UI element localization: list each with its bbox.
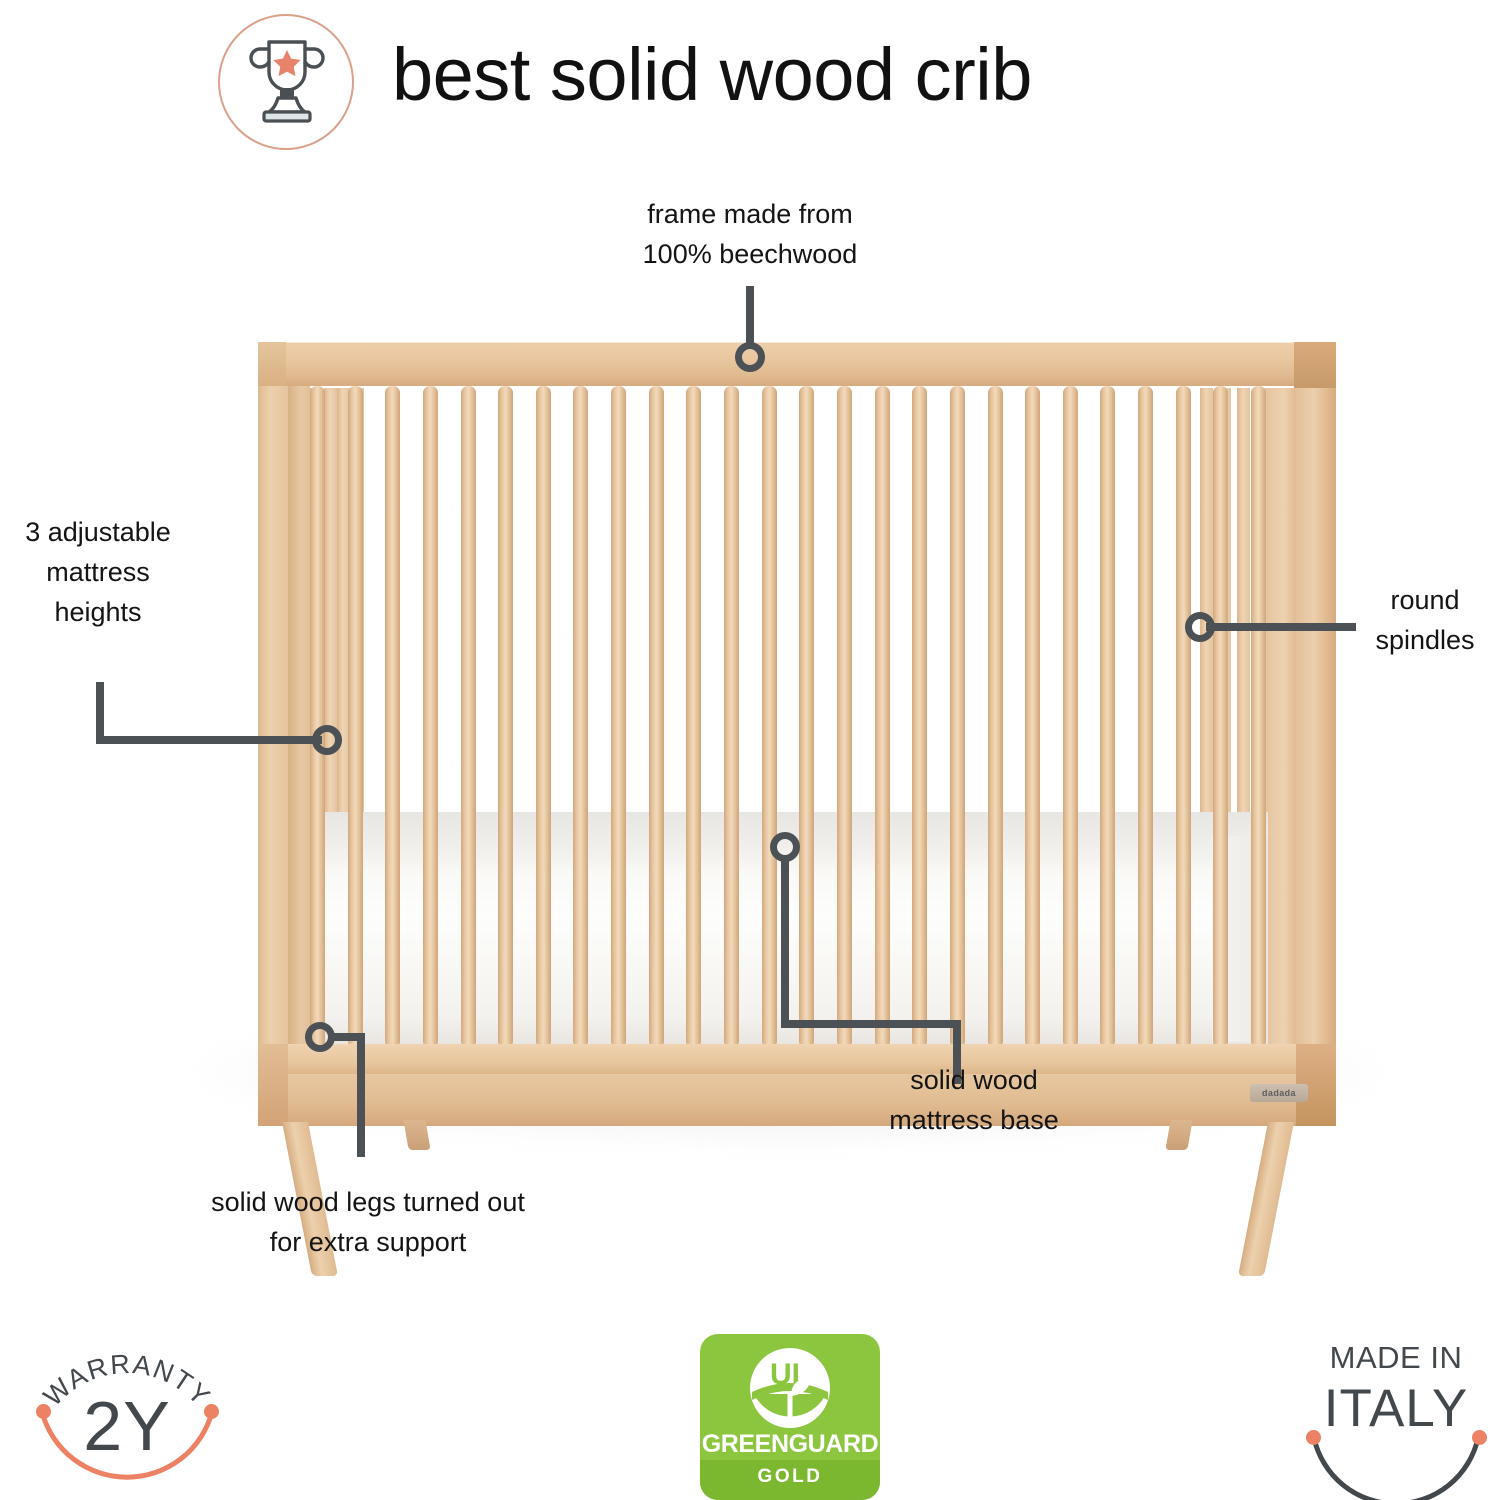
spindle [310,386,325,1048]
callout-round-spindles-marker [1185,612,1215,642]
top-rail [258,342,1336,386]
brand-logo-plate: dadada [1250,1084,1308,1102]
warranty-dot-left [36,1404,51,1419]
callout-mattress-heights-label: 3 adjustable mattress heights [0,512,196,632]
greenguard-badge: UL GREENGUARD GOLD [700,1334,880,1500]
ul-leaf-icon: UL [746,1344,834,1432]
callout-legs-label: solid wood legs turned out for extra sup… [120,1182,616,1262]
greenguard-name: GREENGUARD [700,1430,880,1459]
left-corner-post [258,386,288,1046]
left-post-inner [288,386,310,1046]
warranty-badge: WARRANTY 2Y [22,1338,232,1498]
top-rail-right-cap [1294,342,1336,388]
spindle [1251,386,1266,1048]
callout-mattress-base-leader-v1 [781,860,789,1028]
product-infographic: best solid wood crib [0,0,1492,1500]
base-rail-left-cap [258,1044,288,1126]
rear-right-leg [1165,1120,1192,1150]
spindle [1100,386,1115,1048]
italy-dot-left [1306,1430,1321,1445]
trophy-icon [248,36,326,128]
spindle [950,386,965,1048]
callout-mattress-base-marker [770,832,800,862]
base-rail-upper [258,1044,1336,1074]
spindle [498,386,513,1048]
spindle [423,386,438,1048]
made-in-italy-smile-arc [1298,1334,1492,1500]
callout-mattress-heights-leader-h [96,736,322,744]
front-right-leg [1238,1122,1294,1276]
callout-mattress-heights-marker [312,725,342,755]
spindle [762,386,777,1048]
spindle [1213,386,1228,1048]
callout-round-spindles-label: round spindles [1358,580,1492,660]
spindle [536,386,551,1048]
callout-frame-material-marker [735,342,765,372]
spindle [1063,386,1078,1048]
spindle [1176,386,1191,1048]
right-post-inner [1268,388,1296,1046]
made-in-italy-badge: MADE IN ITALY [1298,1334,1492,1500]
callout-mattress-base-leader-h [781,1020,961,1028]
warranty-smile-arc [22,1338,232,1498]
spindle [461,386,476,1048]
spindle [611,386,626,1048]
italy-dot-right [1472,1430,1487,1445]
top-rail-left-cap [258,342,286,386]
spindle [988,386,1003,1048]
callout-legs-leader-v [357,1033,365,1157]
page-title: best solid wood crib [392,20,1032,130]
spindle [686,386,701,1048]
callout-round-spindles-leader [1206,623,1356,631]
spindle [649,386,664,1048]
greenguard-level: GOLD [700,1466,880,1488]
base-rail-lower [258,1074,1336,1126]
product-stage: dadada frame made from 100% beechwood 3 … [0,160,1492,1320]
callout-frame-material-label: frame made from 100% beechwood [560,194,940,274]
spindle [1138,386,1153,1048]
certification-badges: WARRANTY 2Y UL GREENGUARD GOLD [0,1320,1492,1500]
spindle [837,386,852,1048]
header: best solid wood crib [0,0,1492,160]
right-corner-post [1296,388,1336,1046]
spindle [799,386,814,1048]
callout-legs-marker [305,1022,335,1052]
spindle [348,386,363,1048]
spindle [573,386,588,1048]
warranty-dot-right [204,1404,219,1419]
spindle [385,386,400,1048]
callout-mattress-base-label: solid wood mattress base [800,1060,1148,1140]
spindle [912,386,927,1048]
callout-mattress-heights-leader-v [96,682,104,744]
callout-frame-material-leader [746,286,754,344]
spindle [875,386,890,1048]
spindle [1025,386,1040,1048]
spindle [724,386,739,1048]
